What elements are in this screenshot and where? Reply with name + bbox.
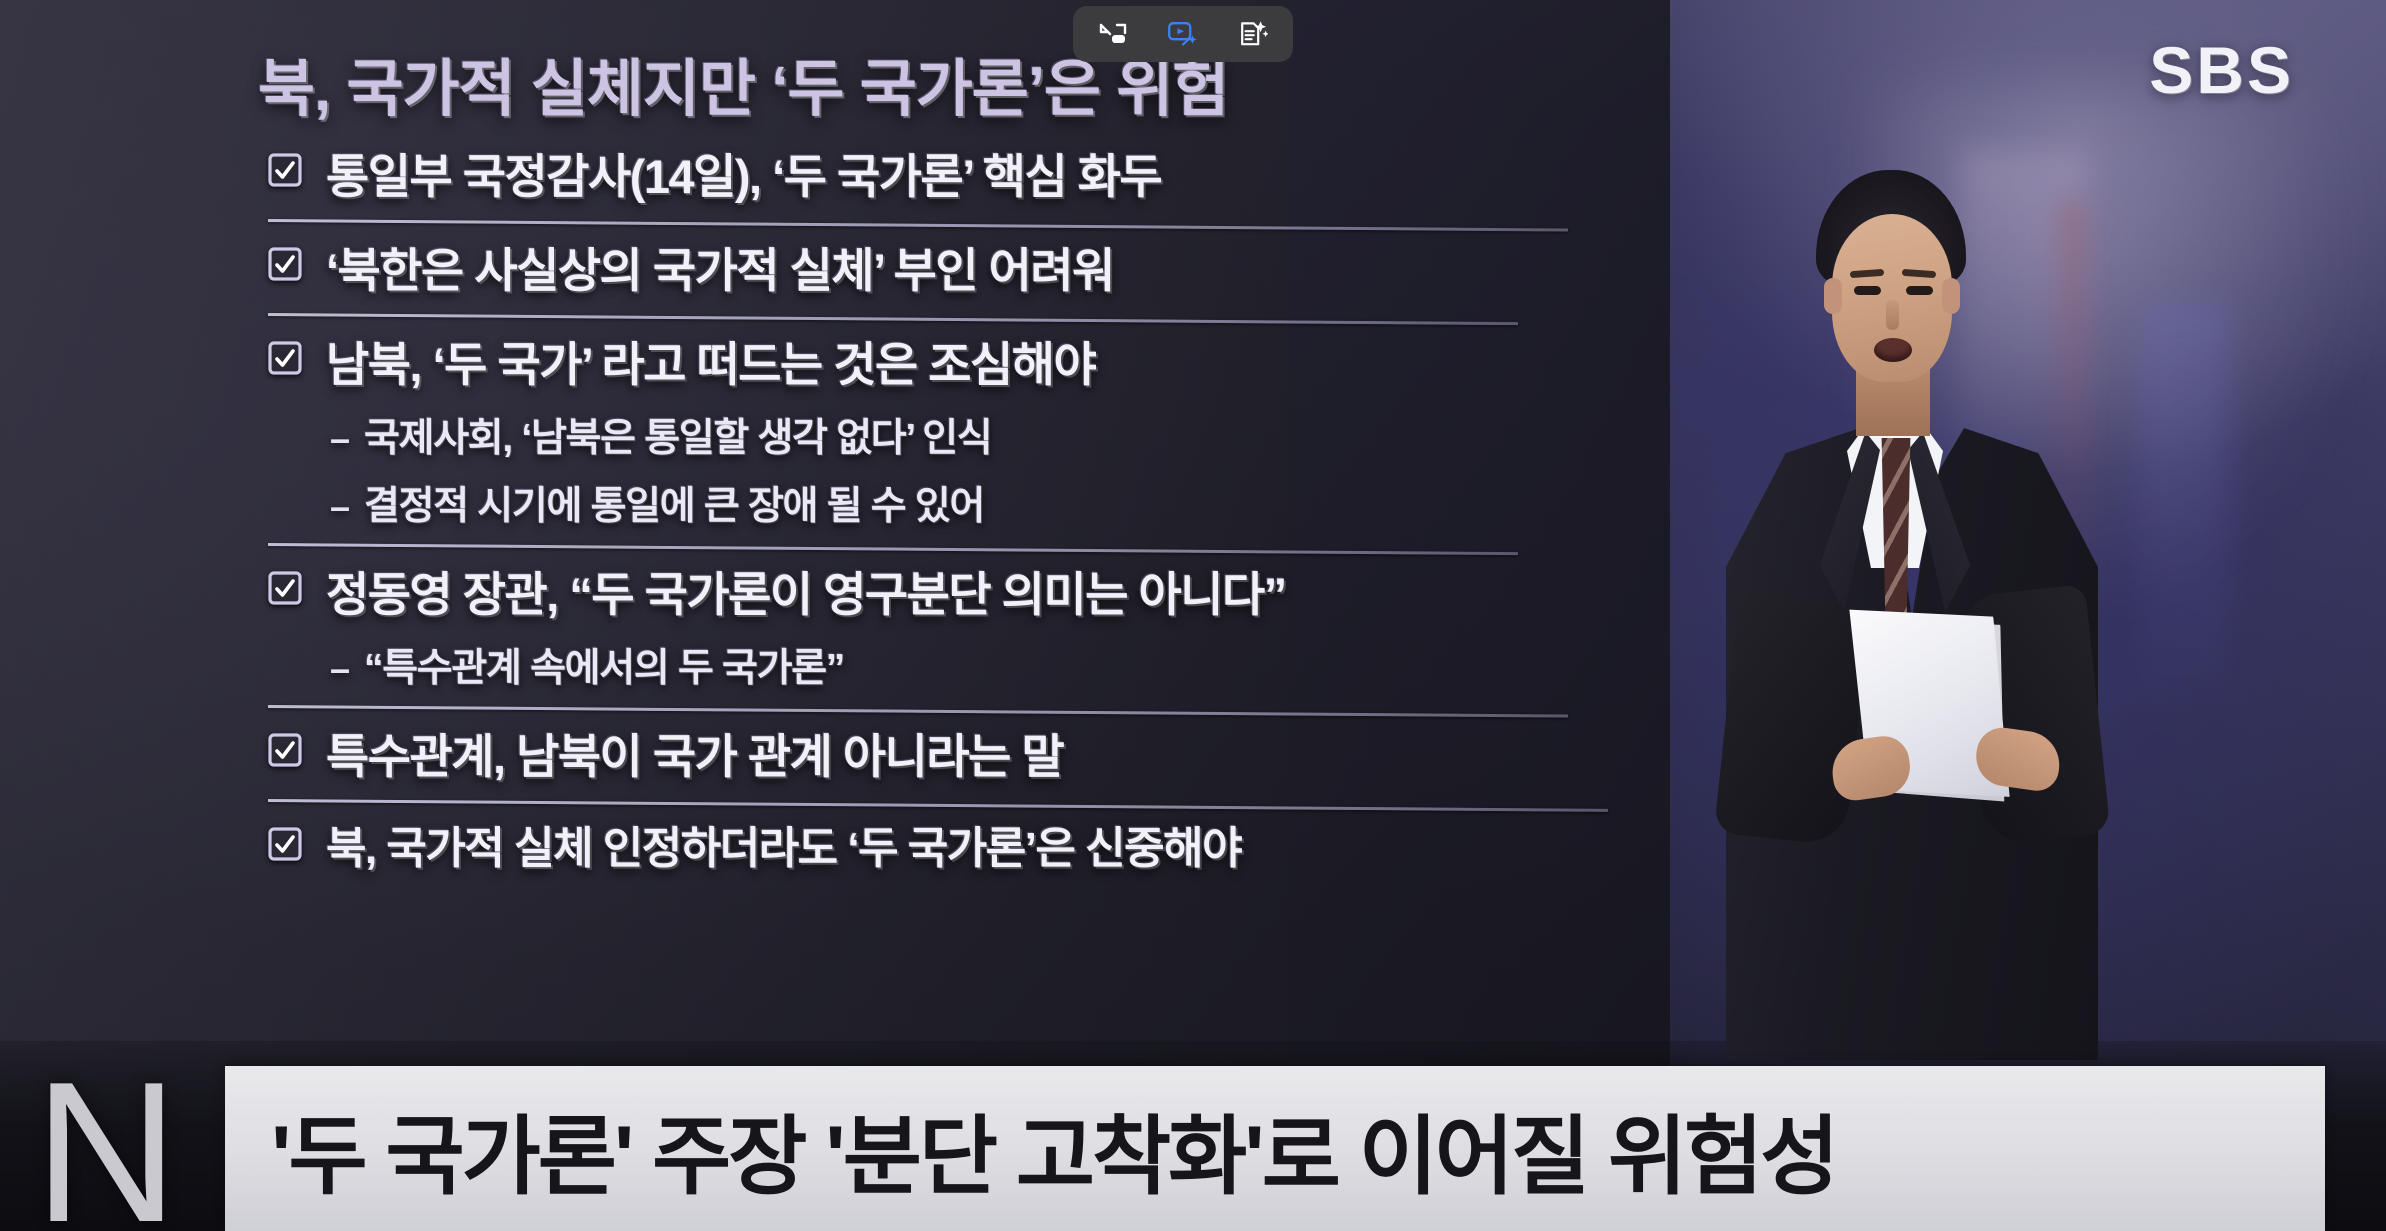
dash-icon: – [330,421,350,457]
lower-third-headline: '두 국가론' 주장 '분단 고착화'로 이어질 위험성 [271,1086,1836,1211]
bullet-line: 북, 국가적 실체 인정하더라도 ‘두 국가론’은 신중해야 [268,812,1700,876]
picture-in-picture-icon [1098,21,1128,47]
anchor-sleeve-left [1714,594,1870,846]
bullet-line: ‘북한은 사실상의 국가적 실체’ 부인 어려워 [268,232,1700,301]
sub-bullet-text: 결정적 시기에 통일에 큰 장애 될 수 있어 [364,475,984,531]
checkbox-checked-icon [268,826,302,862]
checkbox-checked-icon [268,732,302,768]
player-overlay-toolbar [1073,6,1293,62]
bullet-text: 북, 국가적 실체 인정하더라도 ‘두 국가론’은 신중해야 [326,812,1241,876]
bullet-text: 특수관계, 남북이 국가 관계 아니라는 말 [326,718,1063,787]
bullet-text: 정동영 장관, “두 국가론이 영구분단 의미는 아니다” [326,556,1286,625]
video-sparkle-button[interactable] [1163,16,1203,52]
document-sparkle-button[interactable] [1233,16,1273,52]
anchor-eye-right [1906,286,1933,295]
lower-third-bar: '두 국가론' 주장 '분단 고착화'로 이어질 위험성 [225,1066,2325,1231]
anchor-mouth [1874,338,1912,362]
bullet-text: ‘북한은 사실상의 국가적 실체’ 부인 어려워 [326,232,1114,301]
sub-bullet: – 국제사회, ‘남북은 통일할 생각 없다’ 인식 [330,407,1700,463]
checkbox-checked-icon [268,340,302,376]
anchor-eye-left [1854,286,1881,295]
checkbox-checked-icon [268,152,302,188]
video-sparkle-icon [1167,20,1199,48]
sub-bullet-text: 국제사회, ‘남북은 통일할 생각 없다’ 인식 [364,407,991,463]
bullet-line: 특수관계, 남북이 국가 관계 아니라는 말 [268,718,1700,787]
graphic-row: ‘북한은 사실상의 국가적 실체’ 부인 어려워 [0,222,1700,313]
dash-icon: – [330,489,350,525]
graphic-row: 정동영 장관, “두 국가론이 영구분단 의미는 아니다” – “특수관계 속에… [0,546,1700,705]
checkbox-checked-icon [268,246,302,282]
sub-bullet-text: “특수관계 속에서의 두 국가론” [364,637,844,693]
dash-icon: – [330,651,350,687]
bullet-line: 남북, ‘두 국가’ 라고 떠드는 것은 조심해야 [268,326,1700,395]
anchor-nose [1886,300,1899,330]
graphic-row: 북, 국가적 실체 인정하더라도 ‘두 국가론’은 신중해야 [0,802,1700,888]
graphic-bullet-list: 통일부 국정감사(14일), ‘두 국가론’ 핵심 화두 ‘북한은 사실상의 국… [0,128,1700,888]
broadcast-stage: SBS 북, 국가적 실체지만 ‘두 국가론’은 위험 [0,0,2386,1231]
sub-bullet-list: – “특수관계 속에서의 두 국가론” [330,637,1700,693]
sub-bullet: – “특수관계 속에서의 두 국가론” [330,637,1700,693]
graphic-row: 통일부 국정감사(14일), ‘두 국가론’ 핵심 화두 [0,128,1700,219]
news-graphic-board: 북, 국가적 실체지만 ‘두 국가론’은 위험 통일부 국정감사(14일), ‘… [0,0,1700,1060]
sub-bullet: – 결정적 시기에 통일에 큰 장애 될 수 있어 [330,475,1700,531]
news-anchor [1690,170,2160,1060]
network-logo: SBS [2149,32,2294,108]
checkbox-checked-icon [268,570,302,606]
document-sparkle-icon [1238,20,1268,48]
graphic-row: 남북, ‘두 국가’ 라고 떠드는 것은 조심해야 – 국제사회, ‘남북은 통… [0,316,1700,543]
anchor-ear-left [1824,278,1842,314]
bullet-line: 통일부 국정감사(14일), ‘두 국가론’ 핵심 화두 [268,138,1700,207]
bullet-text: 통일부 국정감사(14일), ‘두 국가론’ 핵심 화두 [326,138,1161,207]
sub-bullet-list: – 국제사회, ‘남북은 통일할 생각 없다’ 인식 – 결정적 시기에 통일에… [330,407,1700,531]
bullet-line: 정동영 장관, “두 국가론이 영구분단 의미는 아니다” [268,556,1700,625]
channel-mark: N [34,1075,178,1231]
graphic-row: 특수관계, 남북이 국가 관계 아니라는 말 [0,708,1700,799]
anchor-ear-right [1942,278,1960,314]
bullet-text: 남북, ‘두 국가’ 라고 떠드는 것은 조심해야 [326,326,1095,395]
picture-in-picture-button[interactable] [1093,16,1133,52]
